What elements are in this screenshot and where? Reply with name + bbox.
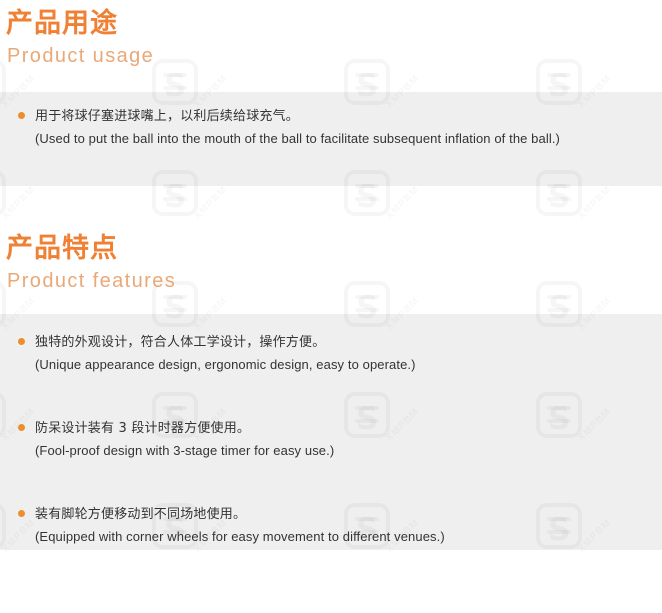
list-item-text-en: (Equipped with corner wheels for easy mo…	[35, 526, 642, 548]
list-item-text-en: (Used to put the ball into the mouth of …	[35, 128, 642, 150]
bullet-dot-icon	[18, 112, 25, 119]
list-item-text-cn: 独特的外观设计，符合人体工学设计，操作方便。	[35, 332, 642, 353]
section-header-usage: 产品用途 Product usage	[6, 8, 154, 69]
list-item: 用于将球仔塞进球嘴上，以利后续给球充气。 (Used to put the ba…	[18, 106, 642, 150]
list-item-text-en: (Unique appearance design, ergonomic des…	[35, 354, 642, 376]
list-item-text-cn: 装有脚轮方便移动到不同场地使用。	[35, 504, 642, 525]
list-item-text-cn: 用于将球仔塞进球嘴上，以利后续给球充气。	[35, 106, 642, 127]
page-content: 产品用途 Product usage 用于将球仔塞进球嘴上，以利后续给球充气。 …	[0, 0, 662, 564]
bullet-dot-icon	[18, 424, 25, 431]
section-title-cn-usage: 产品用途	[6, 8, 154, 40]
section-title-en-usage: Product usage	[7, 43, 154, 69]
list-item: 装有脚轮方便移动到不同场地使用。 (Equipped with corner w…	[18, 504, 642, 548]
list-item: 独特的外观设计，符合人体工学设计，操作方便。 (Unique appearanc…	[18, 332, 642, 376]
list-item-body: 用于将球仔塞进球嘴上，以利后续给球充气。 (Used to put the ba…	[35, 106, 642, 150]
section-title-cn-features: 产品特点	[6, 233, 176, 265]
bullet-dot-icon	[18, 510, 25, 517]
bullet-dot-icon	[18, 338, 25, 345]
list-item-body: 防呆设计装有 3 段计时器方便使用。 (Fool-proof design wi…	[35, 418, 642, 462]
list-item-body: 独特的外观设计，符合人体工学设计，操作方便。 (Unique appearanc…	[35, 332, 642, 376]
list-item: 防呆设计装有 3 段计时器方便使用。 (Fool-proof design wi…	[18, 418, 642, 462]
list-item-text-cn: 防呆设计装有 3 段计时器方便使用。	[35, 418, 642, 439]
list-item-text-en: (Fool-proof design with 3-stage timer fo…	[35, 440, 642, 462]
list-item-body: 装有脚轮方便移动到不同场地使用。 (Equipped with corner w…	[35, 504, 642, 548]
section-header-features: 产品特点 Product features	[6, 233, 176, 294]
section-title-en-features: Product features	[7, 268, 176, 294]
